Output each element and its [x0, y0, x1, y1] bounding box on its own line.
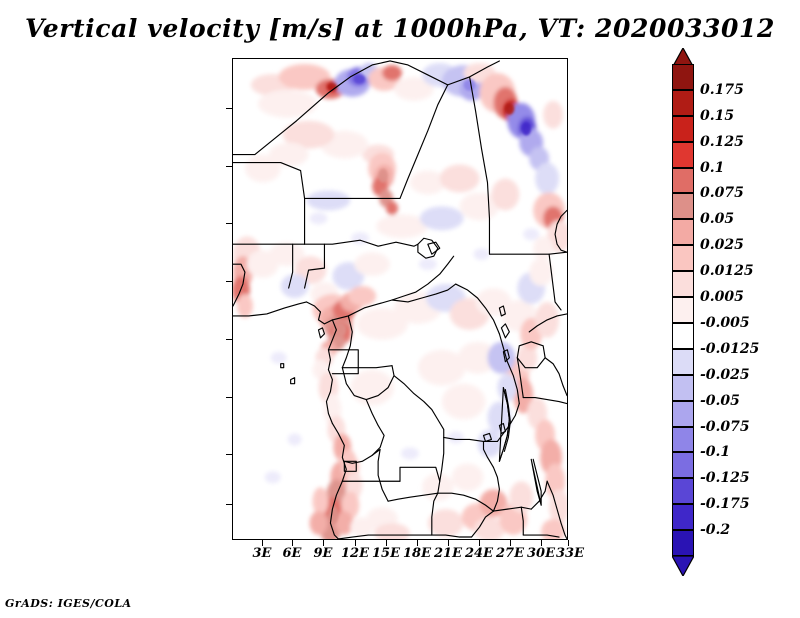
colorbar-tick-label: -0.175 [700, 496, 750, 512]
x-tick-mark [568, 540, 569, 546]
colorbar-band [672, 349, 694, 375]
colorbar-tick-label: -0.05 [700, 393, 740, 409]
colorbar-band [672, 323, 694, 349]
colorbar-band [672, 504, 694, 530]
colorbar-tick-label: 0.15 [700, 108, 734, 124]
colorbar-tick-label: -0.1 [700, 444, 730, 460]
y-tick-mark [226, 108, 232, 109]
y-tick-mark [226, 454, 232, 455]
colorbar-tick-label: -0.075 [700, 419, 750, 435]
x-tick-label-30E: 30E [527, 546, 555, 561]
colorbar-band [672, 116, 694, 142]
page-title: Vertical velocity [m/s] at 1000hPa, VT: … [0, 14, 800, 43]
x-tick-mark [262, 540, 263, 546]
x-tick-label-24E: 24E [465, 546, 493, 561]
x-tick-mark [448, 540, 449, 546]
x-tick-label-18E: 18E [403, 546, 431, 561]
x-tick-label-3E: 3E [253, 546, 272, 561]
x-tick-label-21E: 21E [434, 546, 462, 561]
x-tick-mark [479, 540, 480, 546]
colorbar-band [672, 271, 694, 297]
x-tick-mark [510, 540, 511, 546]
grads-attribution: GrADS: IGES/COLA [5, 597, 132, 610]
colorbar-tick-label: -0.2 [700, 522, 730, 538]
y-tick-mark [226, 223, 232, 224]
colorbar-tick-label: 0.175 [700, 82, 744, 98]
x-tick-label-33E: 33E [556, 546, 584, 561]
colorbar-band [672, 530, 694, 556]
colorbar-tick-label: -0.125 [700, 470, 750, 486]
colorbar-tick-label: -0.005 [700, 315, 750, 331]
coastline-and-borders [233, 59, 567, 539]
colorbar-band [672, 193, 694, 219]
colorbar-tick-label: 0.075 [700, 185, 744, 201]
y-tick-mark [226, 339, 232, 340]
colorbar-band [672, 478, 694, 504]
y-tick-mark [226, 281, 232, 282]
colorbar-tick-label: 0.025 [700, 237, 744, 253]
colorbar-tick-label: 0.05 [700, 211, 734, 227]
colorbar-band [672, 245, 694, 271]
map-plot-area [232, 58, 568, 540]
colorbar-band [672, 168, 694, 194]
colorbar-band [672, 297, 694, 323]
colorbar: 0.1750.150.1250.10.0750.050.0250.01250.0… [672, 64, 694, 556]
colorbar-cap-bottom [672, 556, 694, 576]
colorbar-band [672, 64, 694, 90]
colorbar-band [672, 427, 694, 453]
x-tick-label-9E: 9E [314, 546, 333, 561]
colorbar-tick-label: -0.0125 [700, 341, 759, 357]
colorbar-tick-label: 0.1 [700, 160, 724, 176]
colorbar-band [672, 90, 694, 116]
x-tick-mark [323, 540, 324, 546]
y-tick-mark [226, 397, 232, 398]
x-tick-mark [417, 540, 418, 546]
x-tick-mark [292, 540, 293, 546]
colorbar-band [672, 142, 694, 168]
colorbar-band [672, 401, 694, 427]
x-tick-mark [386, 540, 387, 546]
x-tick-label-15E: 15E [372, 546, 400, 561]
colorbar-band [672, 375, 694, 401]
colorbar-band [672, 219, 694, 245]
y-tick-mark [226, 504, 232, 505]
colorbar-tick-label: -0.025 [700, 367, 750, 383]
colorbar-tick-label: 0.0125 [700, 263, 754, 279]
x-tick-mark [541, 540, 542, 546]
colorbar-band [672, 452, 694, 478]
y-tick-mark [226, 166, 232, 167]
x-tick-label-12E: 12E [341, 546, 369, 561]
colorbar-tick-label: 0.125 [700, 134, 744, 150]
x-tick-label-6E: 6E [283, 546, 302, 561]
x-tick-mark [355, 540, 356, 546]
colorbar-tick-label: 0.005 [700, 289, 744, 305]
x-tick-label-27E: 27E [496, 546, 524, 561]
